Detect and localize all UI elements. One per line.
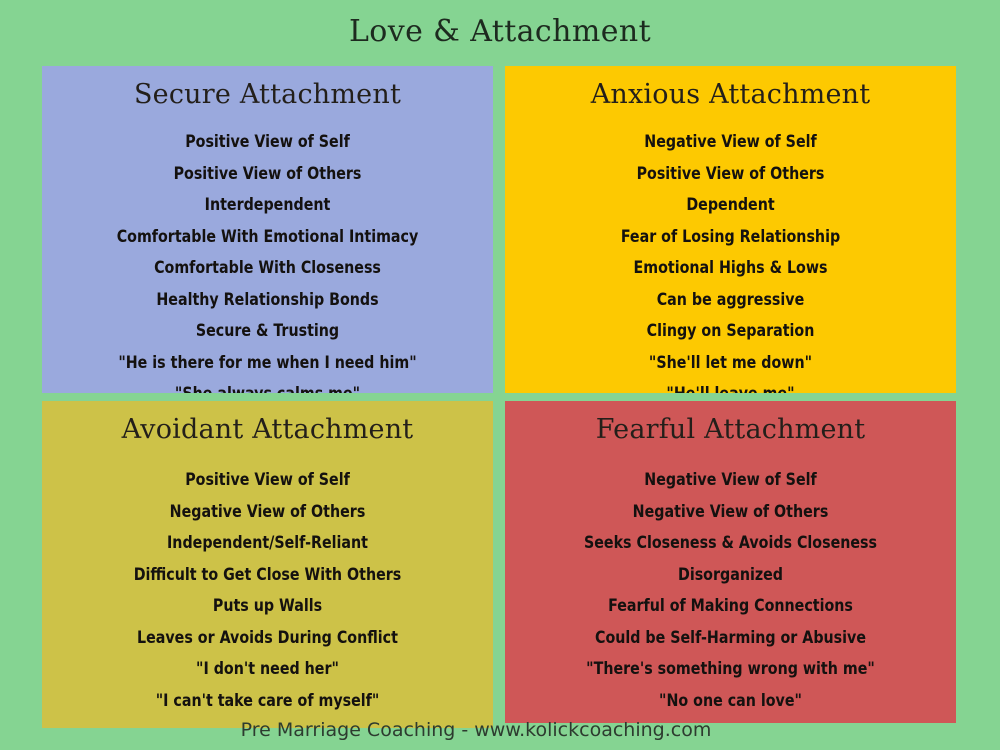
quadrant-secure: Secure Attachment Positive View of Self … <box>42 66 493 393</box>
list-item: Difficult to Get Close With Others <box>51 559 484 591</box>
list-item: Fearful of Making Connections <box>514 590 947 622</box>
list-item: Can be aggressive <box>514 284 947 316</box>
quadrant-secure-heading: Secure Attachment <box>42 78 493 112</box>
list-item: "He'll leave me" <box>514 378 947 393</box>
list-item: Leaves or Avoids During Conflict <box>51 622 484 654</box>
quadrant-avoidant-heading: Avoidant Attachment <box>42 413 493 447</box>
list-item: Comfortable With Emotional Intimacy <box>51 221 484 253</box>
list-item: Negative View of Self <box>514 464 947 496</box>
list-item: Positive View of Others <box>51 158 484 190</box>
quadrant-secure-list: Positive View of Self Positive View of O… <box>42 126 493 393</box>
page-title: Love & Attachment <box>0 14 1000 50</box>
quadrant-fearful-list: Negative View of Self Negative View of O… <box>505 464 956 716</box>
list-item: Secure & Trusting <box>51 315 484 347</box>
list-item: Comfortable With Closeness <box>51 252 484 284</box>
list-item: "I can't take care of myself" <box>51 685 484 717</box>
list-item: "I don't need her" <box>51 653 484 685</box>
list-item: Negative View of Others <box>51 496 484 528</box>
list-item: Seeks Closeness & Avoids Closeness <box>514 527 947 559</box>
list-item: Positive View of Others <box>514 158 947 190</box>
quadrant-fearful: Fearful Attachment Negative View of Self… <box>505 401 956 723</box>
quadrant-anxious: Anxious Attachment Negative View of Self… <box>505 66 956 393</box>
quadrant-avoidant: Avoidant Attachment Positive View of Sel… <box>42 401 493 728</box>
list-item: "There's something wrong with me" <box>514 653 947 685</box>
list-item: "She'll let me down" <box>514 347 947 379</box>
footer-credit: Pre Marriage Coaching - www.kolickcoachi… <box>0 717 1000 743</box>
quadrant-anxious-heading: Anxious Attachment <box>505 78 956 112</box>
list-item: Disorganized <box>514 559 947 591</box>
list-item: Independent/Self-Reliant <box>51 527 484 559</box>
list-item: Could be Self-Harming or Abusive <box>514 622 947 654</box>
list-item: Puts up Walls <box>51 590 484 622</box>
list-item: Fear of Losing Relationship <box>514 221 947 253</box>
attachment-quadrant-grid: Secure Attachment Positive View of Self … <box>42 66 956 728</box>
list-item: Dependent <box>514 189 947 221</box>
list-item: Negative View of Others <box>514 496 947 528</box>
list-item: Positive View of Self <box>51 126 484 158</box>
list-item: Interdependent <box>51 189 484 221</box>
quadrant-anxious-list: Negative View of Self Positive View of O… <box>505 126 956 393</box>
list-item: "No one can love" <box>514 685 947 717</box>
list-item: Negative View of Self <box>514 126 947 158</box>
list-item: Clingy on Separation <box>514 315 947 347</box>
quadrant-avoidant-list: Positive View of Self Negative View of O… <box>42 464 493 716</box>
list-item: "She always calms me" <box>51 378 484 393</box>
list-item: Emotional Highs & Lows <box>514 252 947 284</box>
list-item: "He is there for me when I need him" <box>51 347 484 379</box>
list-item: Positive View of Self <box>51 464 484 496</box>
quadrant-fearful-heading: Fearful Attachment <box>505 413 956 447</box>
list-item: Healthy Relationship Bonds <box>51 284 484 316</box>
